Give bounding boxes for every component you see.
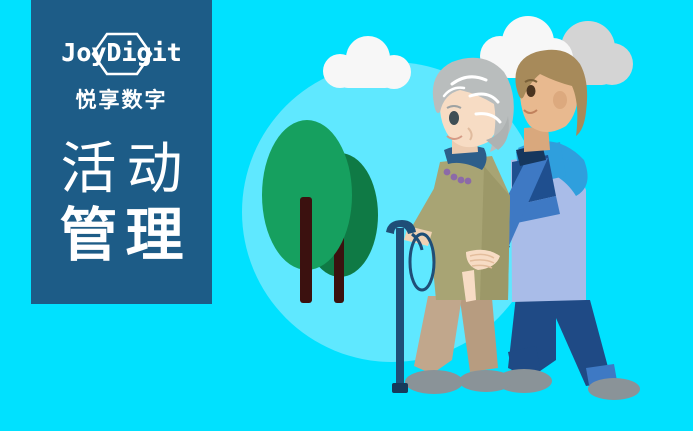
- poster-canvas: JoyDigit 悦享数字 活动 管理: [0, 0, 693, 431]
- logo-wordmark: JoyDigit: [47, 38, 197, 68]
- page-title-line1: 活动: [31, 138, 212, 202]
- logo-block: JoyDigit 悦享数字: [31, 30, 212, 125]
- woman-far-shoe: [459, 370, 513, 392]
- woman-near-shoe: [405, 370, 463, 394]
- cane-shaft: [396, 228, 404, 388]
- page-title: 活动 管理: [31, 138, 212, 268]
- man-ear: [553, 91, 567, 109]
- logo-subtitle: 悦享数字: [76, 84, 168, 114]
- cane-tip: [392, 383, 408, 393]
- page-title-line2: 管理: [31, 202, 212, 268]
- woman-eye: [449, 111, 459, 125]
- man-eye: [527, 85, 536, 97]
- logo-mark: JoyDigit: [47, 30, 197, 78]
- man-far-shoe: [588, 378, 640, 400]
